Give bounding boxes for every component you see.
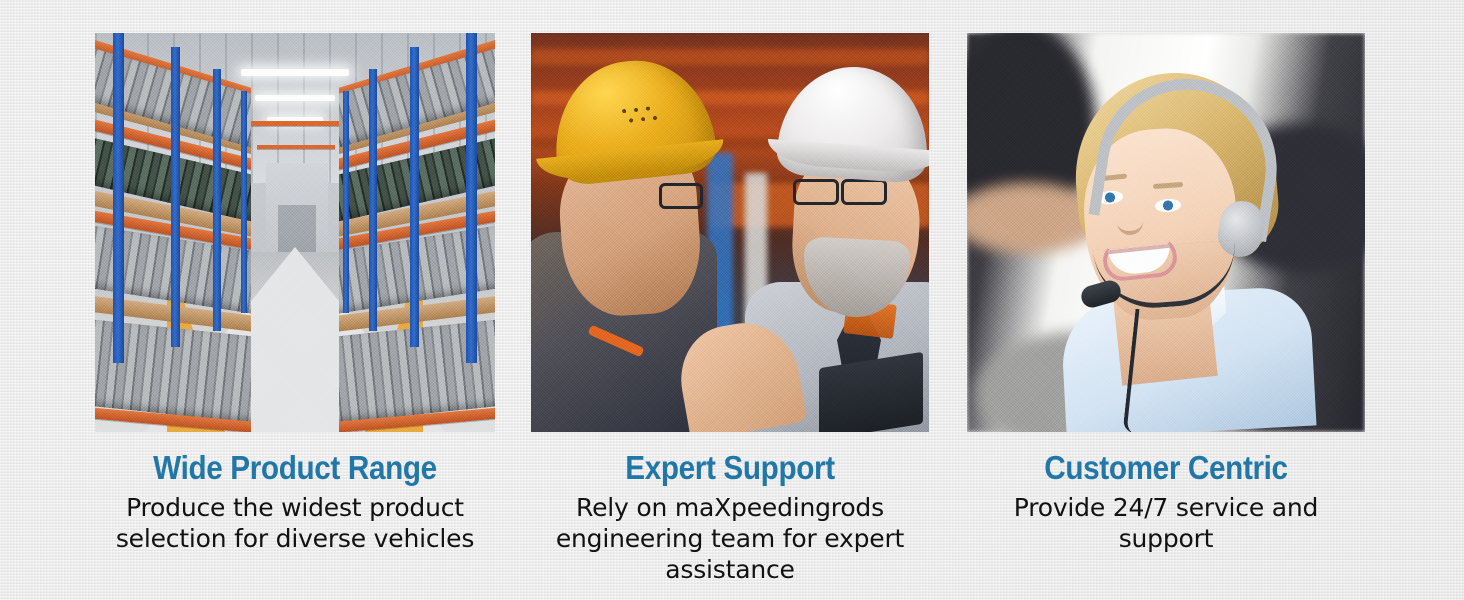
feature-card-wide-product-range: Wide Product Range Produce the widest pr… [95, 33, 495, 554]
feature-card-customer-centric: Customer Centric Provide 24/7 service an… [967, 33, 1365, 554]
engineers-photo [531, 33, 929, 432]
feature-heading: Wide Product Range [115, 450, 475, 486]
feature-card-expert-support: Expert Support Rely on maXpeedingrods en… [531, 33, 929, 585]
feature-banner: Wide Product Range Produce the widest pr… [0, 0, 1464, 600]
ceiling-light-2 [255, 95, 335, 101]
feature-heading: Customer Centric [987, 450, 1345, 486]
ceiling-beam-2 [257, 145, 335, 149]
feature-heading: Expert Support [551, 450, 909, 486]
rack-upright [213, 69, 221, 331]
worker-glasses [659, 183, 703, 209]
rack-right [339, 33, 495, 432]
rack-upright [343, 91, 349, 313]
warehouse-photo [95, 33, 495, 432]
engineer-glasses-right [841, 179, 887, 205]
feature-body: Rely on maXpeedingrods engineering team … [531, 492, 929, 585]
hard-hat-vents [620, 103, 670, 134]
rack-left [95, 33, 251, 432]
rack-upright [171, 47, 180, 347]
ceiling-light-1 [241, 69, 349, 76]
rack-upright [410, 47, 419, 347]
ceiling-beam-1 [245, 121, 345, 126]
warehouse-scene [95, 33, 495, 432]
support-agent-scene [967, 33, 1365, 432]
engineers-scene [531, 33, 929, 432]
feature-body: Provide 24/7 service and support [967, 492, 1365, 554]
background-rack-bar [531, 49, 929, 65]
engineer-glasses-left [793, 179, 839, 205]
rack-upright [241, 91, 247, 313]
rack-upright [369, 69, 377, 331]
rack-upright [466, 33, 477, 363]
support-agent-photo [967, 33, 1365, 432]
feature-body: Produce the widest product selection for… [95, 492, 495, 554]
rack-upright [113, 33, 124, 363]
